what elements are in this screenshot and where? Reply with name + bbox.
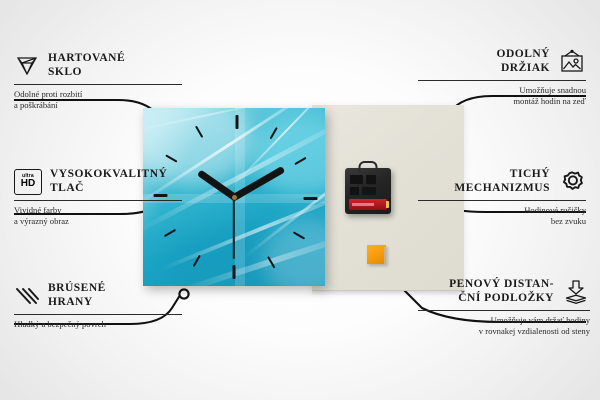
infographic-canvas: HARTOVANÉ SKLO Odolné proti rozbití a po… xyxy=(0,0,600,400)
feature-desc-line1: Hladký a bezpečný povrch xyxy=(14,319,182,330)
arrow-onto-layers-icon xyxy=(562,279,590,305)
feature-desc-line2: montáž hodin na zeď xyxy=(418,96,586,107)
feature-title-line2: TLAČ xyxy=(50,182,167,196)
feature-desc-line2: a výrazný obraz xyxy=(14,216,182,227)
battery-terminal xyxy=(386,201,389,208)
feature-tempered-glass: HARTOVANÉ SKLO Odolné proti rozbití a po… xyxy=(14,52,182,111)
feature-foam-spacers: PENOVÝ DISTAN- ČNÍ PODLOŽKY Umožňuje vám… xyxy=(418,278,590,337)
feature-divider xyxy=(14,314,182,315)
gear-icon xyxy=(558,169,586,195)
badge-main-label: HD xyxy=(21,179,35,189)
feature-ground-edges: BRÚSENÉ HRANY Hladký a bezpečný povrch xyxy=(14,282,182,330)
clock-center-cap xyxy=(232,195,237,200)
feature-divider xyxy=(418,80,586,81)
clock-movement xyxy=(345,168,391,214)
feature-title-line1: VYSOKOKVALITNÝ xyxy=(50,168,167,182)
diagonal-lines-icon xyxy=(14,285,40,307)
feature-divider xyxy=(14,84,182,85)
feature-divider xyxy=(14,200,182,201)
aa-battery xyxy=(349,199,387,210)
diamond-icon xyxy=(14,55,40,77)
feature-desc-line1: Umožňuje snadnou xyxy=(418,85,586,96)
movement-slot xyxy=(362,187,376,195)
feature-divider xyxy=(418,310,590,311)
feature-title-line2: DRŽIAK xyxy=(497,62,550,76)
feature-desc-line2: v rovnakej vzdialenosti od steny xyxy=(418,326,590,337)
hanging-picture-icon xyxy=(558,49,586,75)
feature-desc-line2: a poškrábání xyxy=(14,100,182,111)
movement-slot xyxy=(366,175,376,184)
feature-title-line1: BRÚSENÉ xyxy=(48,282,106,296)
feature-desc-line1: Umožňuje vám držať hodiny xyxy=(418,315,590,326)
feature-title-line1: HARTOVANÉ xyxy=(48,52,125,66)
feature-print-quality: ultra HD VYSOKOKVALITNÝ TLAČ Vividné far… xyxy=(14,168,182,227)
battery-label xyxy=(352,203,374,206)
feature-title-line1: TICHÝ xyxy=(454,168,550,182)
feature-title-line1: ODOLNÝ xyxy=(497,48,550,62)
ultra-hd-badge-icon: ultra HD xyxy=(14,169,42,195)
feature-title-line1: PENOVÝ DISTAN- xyxy=(449,278,554,292)
movement-hanger-icon xyxy=(359,161,378,172)
feature-desc-line1: Odolné proti rozbití xyxy=(14,89,182,100)
feature-desc-line1: Vividné farby xyxy=(14,205,182,216)
feature-desc-line1: Hodinové ručičky xyxy=(418,205,586,216)
foam-spacer-pad xyxy=(367,245,386,264)
feature-silent-mechanism: TICHÝ MECHANIZMUS Hodinové ručičky bez z… xyxy=(418,168,586,227)
feature-desc-line2: bez zvuku xyxy=(418,216,586,227)
movement-slot xyxy=(350,175,363,184)
movement-slot xyxy=(350,187,359,195)
feature-divider xyxy=(418,200,586,201)
feature-title-line2: HRANY xyxy=(48,296,106,310)
feature-title-line2: SKLO xyxy=(48,66,125,80)
feature-title-line2: ČNÍ PODLOŽKY xyxy=(449,292,554,306)
feature-title-line2: MECHANIZMUS xyxy=(454,182,550,196)
feature-durable-holder: ODOLNÝ DRŽIAK Umožňuje snadnou montáž ho… xyxy=(418,48,586,107)
